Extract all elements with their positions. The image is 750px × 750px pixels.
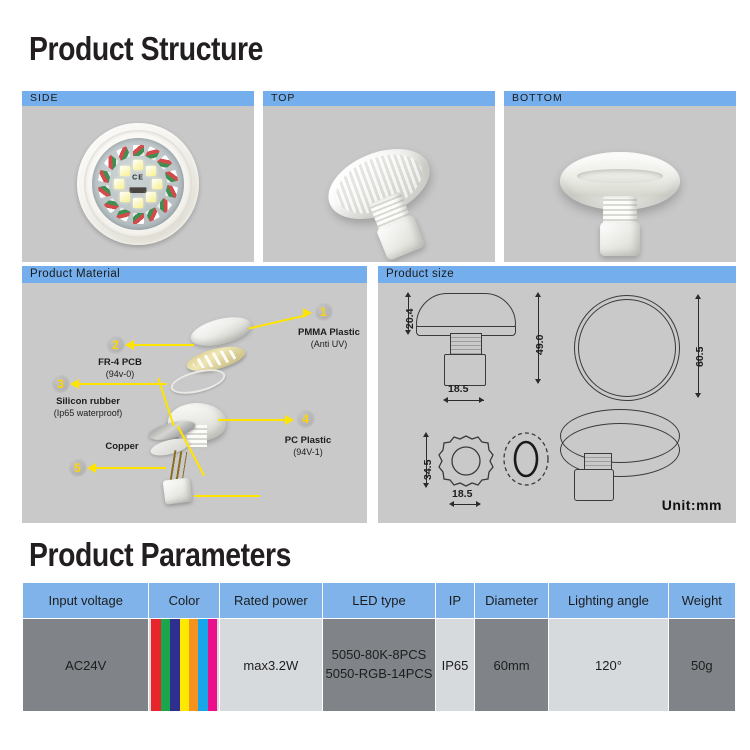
leader-arrow-1 — [303, 308, 312, 318]
rgb-led-7 — [133, 213, 144, 224]
dim-tick-nut-top — [423, 432, 429, 437]
lamp-cable-gland-nut-bottom — [600, 222, 640, 256]
drawing-nut-plan — [438, 433, 494, 489]
product-parameters-table: Input voltage Color Rated power LED type… — [22, 582, 736, 712]
view-panel-top: TOP — [263, 91, 495, 262]
dim-label-total-height: 49.0 — [534, 335, 546, 355]
page-title-product-parameters: Product Parameters — [29, 536, 291, 574]
view-panel-top-label: TOP — [263, 91, 495, 106]
leader-line-4c — [194, 495, 260, 497]
color-swatch-3 — [180, 619, 189, 711]
dim-tick-cap-top — [405, 292, 411, 297]
rgb-led-6 — [145, 207, 160, 222]
drawing-side-cap — [416, 293, 516, 329]
view-panel-bottom-label: BOTTOM — [504, 91, 736, 106]
leader-arrow-3 — [70, 379, 79, 389]
white-led-3 — [146, 192, 156, 202]
table-row: AC24V max3.2W 5050-80K-8PCS 5050-RGB-14P… — [23, 619, 736, 712]
dim-tick-dia-bottom — [695, 393, 701, 398]
drawing-side-nut — [444, 354, 486, 386]
white-led-5 — [120, 192, 130, 202]
white-led-1 — [146, 166, 156, 176]
white-led-7 — [120, 166, 130, 176]
dim-tick-total-bottom — [535, 379, 541, 384]
leader-arrow-4 — [285, 415, 294, 425]
column-header-led-type: LED type — [322, 583, 435, 619]
rgb-led-9 — [104, 197, 119, 212]
cell-rated-power: max3.2W — [219, 619, 322, 712]
cell-color-swatches — [149, 619, 219, 712]
color-swatch-5 — [198, 619, 207, 711]
drawing-iso-nut — [574, 469, 614, 501]
rgb-led-11 — [98, 170, 111, 183]
callout-badge-4: 4 — [296, 409, 315, 428]
dim-tick-cap-bottom — [405, 330, 411, 335]
column-header-ip: IP — [436, 583, 475, 619]
product-size-panel: Product size 20.4 49.0 18.5 — [378, 266, 736, 523]
callout-badge-5: 5 — [68, 458, 87, 477]
product-material-header: Product Material — [22, 266, 367, 283]
cell-led-type: 5050-80K-8PCS 5050-RGB-14PCS — [322, 619, 435, 712]
color-swatch-4 — [189, 619, 198, 711]
dim-label-nut-across: 34.5 — [422, 460, 434, 480]
drawing-toothed-washer — [500, 431, 552, 487]
column-header-rated-power: Rated power — [219, 583, 322, 619]
callout-label-3: Silicon rubber (Ip65 waterproof) — [24, 396, 152, 419]
column-header-color: Color — [149, 583, 219, 619]
callout-badge-3: 3 — [51, 374, 70, 393]
callout-badge-1: 1 — [314, 302, 333, 321]
product-size-header: Product size — [378, 266, 736, 283]
driver-ic-chip — [130, 187, 147, 193]
dim-label-cap-height: 20.4 — [404, 309, 416, 329]
rgb-led-13 — [116, 146, 131, 161]
dim-tick-total-top — [535, 292, 541, 297]
color-swatch-2 — [170, 619, 179, 711]
part-silicon-oring — [168, 365, 227, 399]
exploded-diagram: 1 PMMA Plastic (Anti UV) 2 FR-4 PCB (94v… — [22, 283, 367, 523]
technical-drawing: 20.4 49.0 18.5 34.5 18.5 — [378, 283, 736, 523]
callout-label-4: PC Plastic (94V-1) — [258, 435, 358, 458]
color-swatch-1 — [161, 619, 170, 711]
led-pcb-photo: CE — [22, 106, 254, 262]
pcb-board: CE — [92, 138, 184, 230]
rgb-led-0 — [133, 145, 144, 156]
cell-weight: 50g — [668, 619, 735, 712]
column-header-weight: Weight — [668, 583, 735, 619]
table-header-row: Input voltage Color Rated power LED type… — [23, 583, 736, 619]
part-pc-cube — [163, 477, 193, 504]
cell-input-voltage: AC24V — [23, 619, 149, 712]
leader-arrow-2 — [125, 340, 134, 350]
color-swatch-0 — [151, 619, 160, 711]
leader-arrow-5 — [87, 463, 96, 473]
leader-line-5 — [94, 467, 166, 469]
leader-line-2 — [132, 344, 194, 346]
rgb-led-8 — [116, 207, 131, 222]
dim-tick-nutw-right — [476, 501, 481, 507]
leader-line-3 — [77, 383, 167, 385]
lamp-bottom-illustration — [560, 152, 680, 210]
dim-tick-thread-left — [443, 397, 448, 403]
product-material-panel: Product Material 1 PMMA Plastic (Anti UV… — [22, 266, 367, 523]
white-led-2 — [152, 179, 162, 189]
leader-line-4 — [218, 419, 292, 421]
dim-label-thread-width: 18.5 — [448, 383, 468, 395]
led-type-line-2: 5050-RGB-14PCS — [325, 665, 433, 684]
rgb-led-1 — [145, 146, 160, 161]
rgb-led-2 — [157, 155, 172, 170]
dim-tick-nut-bottom — [423, 483, 429, 488]
column-header-input-voltage: Input voltage — [23, 583, 149, 619]
cell-lighting-angle: 120° — [549, 619, 668, 712]
cell-diameter: 60mm — [474, 619, 548, 712]
rgb-led-5 — [157, 197, 172, 212]
pcb-disc-illustration: CE — [77, 123, 199, 245]
callout-label-5: Copper — [84, 441, 160, 453]
column-header-diameter: Diameter — [474, 583, 548, 619]
rgb-led-10 — [98, 185, 111, 198]
white-led-4 — [133, 198, 143, 208]
callout-badge-2: 2 — [106, 335, 125, 354]
led-type-line-1: 5050-80K-8PCS — [325, 646, 433, 665]
view-panel-side-label: SIDE — [22, 91, 254, 106]
dim-label-diameter: 60.5 — [694, 347, 706, 367]
color-swatch-6 — [208, 619, 217, 711]
dim-tick-dia-top — [695, 294, 701, 299]
rgb-led-12 — [104, 155, 119, 170]
color-swatch-strip — [151, 619, 216, 711]
lamp-top-illustration — [318, 135, 440, 232]
product-spec-sheet: Product Structure SIDE CE TOP — [0, 0, 750, 750]
white-led-0 — [133, 160, 143, 170]
dim-label-nut-width: 18.5 — [452, 488, 472, 500]
white-led-6 — [114, 179, 124, 189]
column-header-lighting-angle: Lighting angle — [549, 583, 668, 619]
dim-tick-thread-right — [479, 397, 484, 403]
lamp-top-photo — [263, 106, 495, 262]
cell-ip: IP65 — [436, 619, 475, 712]
lamp-bottom-photo — [504, 106, 736, 262]
rgb-led-3 — [165, 170, 178, 183]
callout-label-1: PMMA Plastic (Anti UV) — [274, 327, 367, 350]
rgb-led-4 — [165, 185, 178, 198]
page-title-product-structure: Product Structure — [29, 30, 263, 68]
drawing-plan-circle-inner — [578, 299, 676, 397]
view-panel-bottom: BOTTOM — [504, 91, 736, 262]
part-pmma-lens — [188, 312, 254, 351]
unit-label: Unit:mm — [662, 497, 722, 513]
view-panel-side: SIDE CE — [22, 91, 254, 262]
dim-tick-nutw-left — [449, 501, 454, 507]
ce-mark-icon: CE — [132, 175, 144, 182]
callout-label-2: FR-4 PCB (94v-0) — [74, 357, 166, 380]
